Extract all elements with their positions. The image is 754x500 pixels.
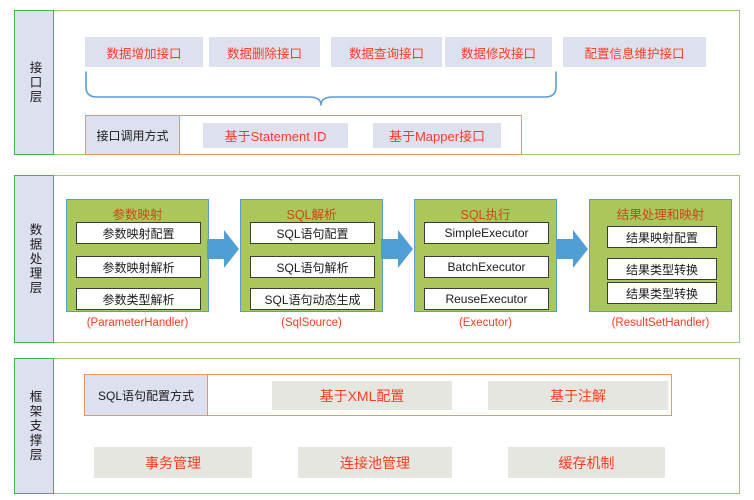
sql-config-option-xml[interactable]: 基于XML配置 [272,381,452,410]
process-group-sql-execution[interactable]: SQL执行 SimpleExecutor BatchExecutor Reuse… [414,199,557,312]
process-item[interactable]: 参数映射解析 [76,256,201,278]
interface-call-mode-box: 接口调用方式 基于Statement ID 基于Mapper接口 [85,115,522,155]
process-item[interactable]: 结果类型转换 [607,258,717,280]
sql-config-mode-box: SQL语句配置方式 基于XML配置 基于注解 [84,374,672,416]
process-group-sql-execution-caption: (Executor) [414,317,557,329]
process-item[interactable]: 结果类型转换 [607,282,717,304]
api-chip-config-maintain[interactable]: 配置信息维护接口 [563,37,706,67]
process-group-sql-parsing-title: SQL解析 [241,204,382,223]
process-group-parameter-mapping-title: 参数映射 [67,204,208,223]
call-mode-option-mapper-interface-label: 基于Mapper接口 [389,126,485,145]
flow-arrow-right-icon [381,230,413,268]
call-mode-option-mapper-interface[interactable]: 基于Mapper接口 [373,123,501,148]
process-item[interactable]: 结果映射配置 [607,226,717,248]
process-group-result-handling-title: 结果处理和映射 [590,204,731,223]
process-item[interactable]: SQL语句动态生成 [250,288,375,310]
process-group-result-handling-caption: (ResultSetHandler) [589,317,732,329]
support-chip-connection-pool-management-label: 连接池管理 [340,453,410,473]
layer-sidebar-interface: 接口层 [14,10,54,155]
support-chip-connection-pool-management[interactable]: 连接池管理 [298,447,452,478]
process-group-sql-execution-title: SQL执行 [415,204,556,223]
interface-call-mode-label-cell: 接口调用方式 [86,116,180,154]
process-item[interactable]: SQL语句解析 [250,256,375,278]
support-chip-transaction-management-label: 事务管理 [145,453,201,473]
api-chip-data-query[interactable]: 数据查询接口 [331,37,442,67]
process-item[interactable]: SimpleExecutor [424,222,549,244]
process-item[interactable]: 参数映射配置 [76,222,201,244]
interface-call-mode-label: 接口调用方式 [96,127,168,144]
flow-arrow-right-icon-svg [381,230,413,268]
flow-arrow-right-icon-svg [207,230,239,268]
layer-sidebar-data-processing: 数据处理层 [14,175,54,343]
process-item[interactable]: ReuseExecutor [424,288,549,310]
process-item[interactable]: BatchExecutor [424,256,549,278]
sql-config-mode-label: SQL语句配置方式 [98,387,194,404]
api-chip-config-maintain-label: 配置信息维护接口 [584,43,684,62]
layer-panel-interface: 接口层 数据增加接口 数据删除接口 数据查询接口 数据修改接口 配置信息维护接口… [14,10,740,155]
sql-config-mode-label-cell: SQL语句配置方式 [85,375,208,415]
process-item[interactable]: SQL语句配置 [250,222,375,244]
call-mode-option-statement-id-label: 基于Statement ID [225,126,327,145]
process-group-parameter-mapping[interactable]: 参数映射 参数映射配置 参数映射解析 参数类型解析 [66,199,209,312]
layer-sidebar-interface-label: 接口层 [27,61,42,105]
process-group-sql-parsing[interactable]: SQL解析 SQL语句配置 SQL语句解析 SQL语句动态生成 [240,199,383,312]
sql-config-option-annotation[interactable]: 基于注解 [488,381,668,410]
api-chip-data-update-label: 数据修改接口 [461,43,536,62]
process-item[interactable]: 参数类型解析 [76,288,201,310]
support-chip-cache-mechanism[interactable]: 缓存机制 [508,447,665,478]
support-chip-transaction-management[interactable]: 事务管理 [94,447,252,478]
support-chip-cache-mechanism-label: 缓存机制 [559,453,615,473]
brace-connector-icon [81,71,561,109]
api-chip-data-add[interactable]: 数据增加接口 [85,37,203,67]
process-group-parameter-mapping-caption: (ParameterHandler) [66,317,209,329]
flow-arrow-right-icon [207,230,239,268]
layer-sidebar-data-processing-label: 数据处理层 [27,223,42,296]
api-chip-data-query-label: 数据查询接口 [349,43,424,62]
api-chip-data-delete-label: 数据删除接口 [227,43,302,62]
call-mode-option-statement-id[interactable]: 基于Statement ID [203,123,348,148]
sql-config-option-annotation-label: 基于注解 [550,386,606,406]
api-chip-data-add-label: 数据增加接口 [106,43,181,62]
process-group-result-handling[interactable]: 结果处理和映射 结果映射配置 结果类型转换 结果类型转换 [589,199,732,312]
process-group-sql-parsing-caption: (SqlSource) [240,317,383,329]
brace-connector [81,71,561,109]
sql-config-option-xml-label: 基于XML配置 [320,386,405,406]
flow-arrow-right-icon [556,230,588,268]
architecture-diagram: 接口层 数据增加接口 数据删除接口 数据查询接口 数据修改接口 配置信息维护接口… [0,0,754,500]
layer-sidebar-framework-support-label: 框架支撑层 [27,390,42,463]
layer-sidebar-framework-support: 框架支撑层 [14,358,54,494]
api-chip-data-delete[interactable]: 数据删除接口 [209,37,320,67]
flow-arrow-right-icon-svg [556,230,588,268]
api-chip-data-update[interactable]: 数据修改接口 [445,37,552,67]
